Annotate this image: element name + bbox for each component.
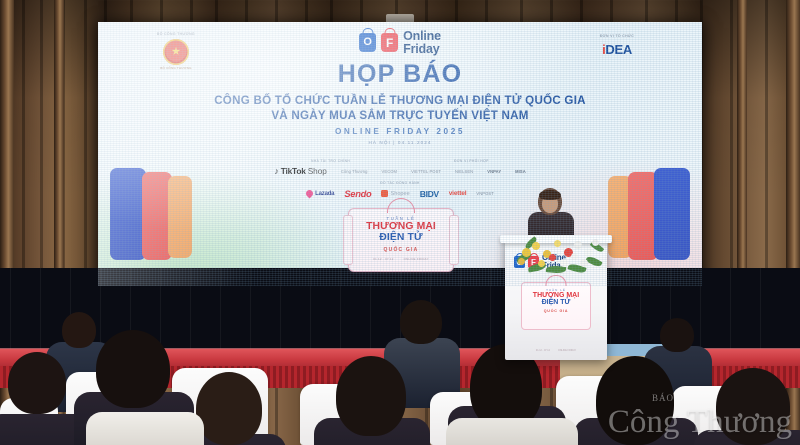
flower-bloom <box>549 254 556 261</box>
audience-shoulders <box>86 412 204 445</box>
audience-head <box>660 318 694 352</box>
partner-logo-2: VECOM <box>382 169 398 174</box>
partner-logo-5: VNPAY <box>487 169 501 174</box>
podium-bag-line-quoc-gia: QUỐC GIA <box>522 309 590 313</box>
flower-bloom <box>538 260 545 267</box>
tiktok-wordmark: TikTok <box>281 166 306 176</box>
backdrop-fold <box>310 268 311 352</box>
bag-side-right <box>449 215 459 265</box>
podium-bag-line-dien-tu: ĐIỆN TỬ <box>522 299 590 306</box>
sponsor-category-right: ĐƠN VỊ PHỐI HỢP <box>454 159 489 163</box>
emblem-caption: BỘ CÔNG THƯƠNG <box>138 32 214 36</box>
flower-bloom <box>580 259 588 267</box>
partner-logo-1: Công Thương <box>341 169 368 174</box>
backdrop-fold <box>100 268 101 352</box>
shopping-bag-red-icon: F <box>381 33 398 52</box>
backdrop-fold <box>640 268 641 352</box>
sponsor-category-bottom: ĐỒ TÁC ĐỒNG HÀNH <box>98 181 702 185</box>
logo-line-friday: Friday <box>403 43 441 56</box>
title-online-friday-2025: ONLINE FRIDAY 2025 <box>98 127 702 136</box>
audience-head <box>336 356 406 436</box>
lazada-mark-icon <box>305 189 315 199</box>
flower-bloom <box>584 248 593 257</box>
backdrop-fold <box>10 268 11 352</box>
audience-head <box>96 330 170 408</box>
audience-shoulders <box>446 418 578 445</box>
partner-logo-4: NIELSEN <box>455 169 473 174</box>
tiktok-note-icon: ♪ <box>274 167 279 176</box>
flower-bloom <box>592 239 599 246</box>
bag-footer-left: 01.12 - 07.12 <box>373 257 393 261</box>
audience-head <box>62 312 96 348</box>
audience-head <box>196 372 262 445</box>
backdrop-fold <box>220 268 221 352</box>
partner-logo-3: VIETTEL POST <box>411 169 441 174</box>
national-ecommerce-week-bag-graphic: TUẦN LỄ THƯƠNG MẠI ĐIỆN TỬ QUỐC GIA 01.1… <box>348 208 452 272</box>
flower-arrangement <box>516 232 600 272</box>
flower-bloom <box>574 241 582 249</box>
backdrop-fold <box>490 268 491 352</box>
idea-logo-block: ĐƠN VỊ TỔ CHỨC iDEA <box>574 34 660 57</box>
flower-bloom <box>522 248 531 257</box>
viettel-logo: viettel <box>449 190 467 197</box>
bag-handle-icon <box>387 198 415 213</box>
backdrop-fold <box>40 268 41 352</box>
logo-letter-f: F <box>381 33 398 52</box>
podium-footer-right: ONLINE FRIDAY <box>558 349 576 352</box>
bag-line-quoc-gia: QUỐC GIA <box>349 247 453 253</box>
idea-caption: ĐƠN VỊ TỔ CHỨC <box>574 34 660 38</box>
bidv-logo: BIDV <box>420 189 439 199</box>
partner-logo-6: MISA <box>515 169 526 174</box>
bag-footer: 01.12 - 07.12 ONLINE FRIDAY <box>349 257 453 261</box>
backdrop-fold <box>610 268 611 352</box>
backdrop-fold <box>760 268 761 352</box>
speaker-hair-front <box>539 190 561 200</box>
shopee-wordmark: Shopee <box>390 191 409 197</box>
bag-footer-right: ONLINE FRIDAY <box>404 257 429 261</box>
audience-head <box>400 300 442 344</box>
online-friday-logo: O F Online Friday <box>310 30 490 55</box>
backdrop-fold <box>460 268 461 352</box>
lazada-logo: Lazada <box>306 190 334 197</box>
bag-outline: TUẦN LỄ THƯƠNG MẠI ĐIỆN TỬ QUỐC GIA 01.1… <box>348 208 454 272</box>
backdrop-fold <box>340 268 341 352</box>
watermark-bao: BÁO <box>652 393 674 403</box>
title-subline-1: CÔNG BỐ TỔ CHỨC TUẦN LỄ THƯƠNG MẠI ĐIỆN … <box>98 94 702 107</box>
tiktok-shop-logo: ♪ TikTok Shop <box>274 166 327 176</box>
podium-bag-graphic: TUẦN LỄ THƯƠNG MẠI ĐIỆN TỬ QUỐC GIA <box>521 282 591 330</box>
podium-footer: 01.12 - 07.12 ONLINE FRIDAY <box>536 349 576 352</box>
sendo-logo: Sendo <box>344 188 371 199</box>
flower-bloom <box>554 240 561 247</box>
shopee-logo: Shopee <box>381 190 409 197</box>
led-presentation-screen: BỘ CÔNG THƯƠNG BỘ CÔNG THƯƠNG O F Online… <box>98 22 702 286</box>
screenshot-root: BỘ CÔNG THƯƠNG BỘ CÔNG THƯƠNG O F Online… <box>0 0 800 445</box>
watermark-cong-thuong: Công Thương <box>608 406 792 439</box>
screen-title-block: HỌP BÁO CÔNG BỐ TỔ CHỨC TUẦN LỄ THƯƠNG M… <box>98 60 702 145</box>
title-date-location: HÀ NỘI | 04.11.2024 <box>98 140 702 145</box>
backdrop-fold <box>250 268 251 352</box>
sponsor-logo-row-1: ♪ TikTok Shop Công Thương VECOM VIETTEL … <box>98 166 702 176</box>
lazada-wordmark: Lazada <box>315 191 334 197</box>
bag-line-dien-tu: ĐIỆN TỬ <box>349 233 453 244</box>
backdrop-fold <box>730 268 731 352</box>
bag-side-left <box>343 215 353 265</box>
flower-bloom <box>571 253 578 260</box>
partner-logo-7: VNPOST <box>476 191 493 196</box>
idea-wordmark: iDEA <box>574 42 660 57</box>
title-subline-2: VÀ NGÀY MUA SẮM TRỰC TUYẾN VIỆT NAM <box>98 109 702 122</box>
online-friday-wordmark: Online Friday <box>403 30 441 55</box>
backdrop-fold <box>700 268 701 352</box>
sponsor-section: NHÀ TÀI TRỢ CHÍNH ĐƠN VỊ PHỐI HỢP ♪ TikT… <box>98 159 702 199</box>
idea-letters-dea: DEA <box>605 42 632 57</box>
shopping-bag-blue-icon: O <box>359 33 376 52</box>
logo-letter-o: O <box>359 33 376 52</box>
podium-footer-left: 01.12 - 07.12 <box>536 349 550 352</box>
sponsor-category-row: NHÀ TÀI TRỢ CHÍNH ĐƠN VỊ PHỐI HỢP <box>98 159 702 163</box>
flower-bloom <box>560 259 568 267</box>
tiktok-shop-word: Shop <box>308 167 327 176</box>
audience-head <box>8 352 66 414</box>
title-hop-bao: HỌP BÁO <box>98 60 702 89</box>
logo-line-online: Online <box>403 30 441 43</box>
watermark: BÁO Công Thương <box>608 406 792 439</box>
shopee-bag-icon <box>381 190 388 197</box>
backdrop-fold <box>160 268 161 352</box>
backdrop-fold <box>190 268 191 352</box>
sponsor-category-left: NHÀ TÀI TRỢ CHÍNH <box>311 159 350 163</box>
backdrop-fold <box>370 268 371 352</box>
flower-bloom <box>532 242 540 250</box>
flower-bloom <box>518 258 525 265</box>
backdrop-fold <box>280 268 281 352</box>
